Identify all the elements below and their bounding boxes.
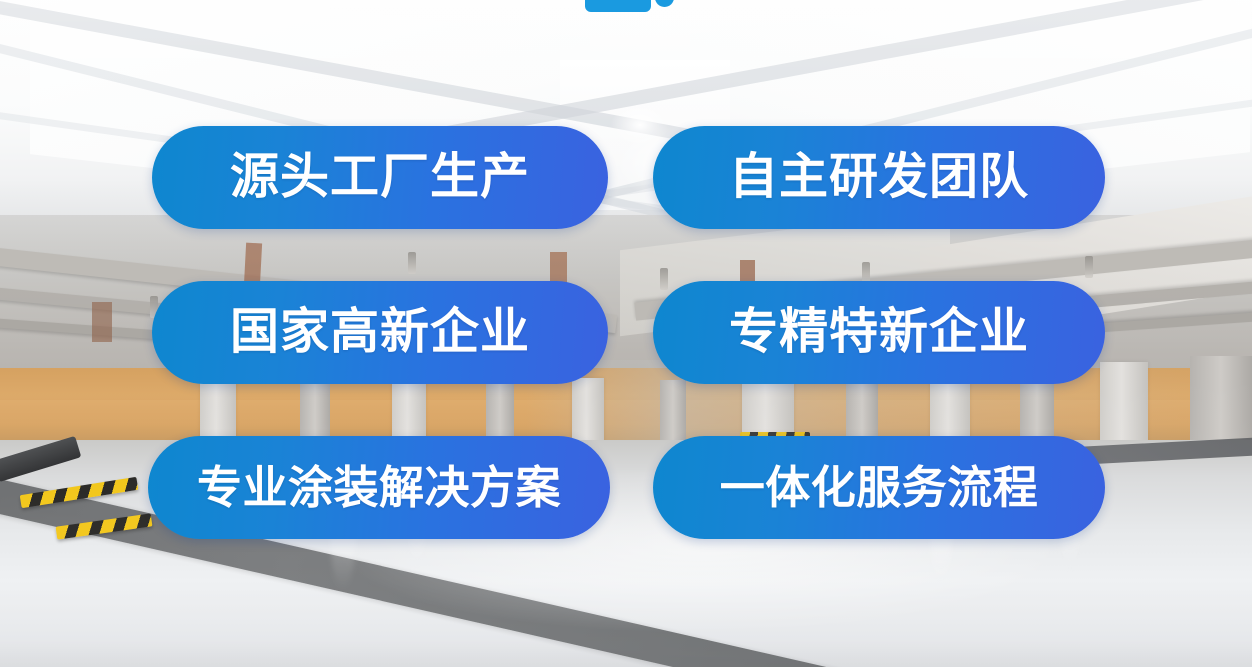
banner-stage: 源头工厂生产 自主研发团队 国家高新企业 专精特新企业 专业涂装解决方案 一体化… [0, 0, 1252, 667]
pill-label: 源头工厂生产 [230, 153, 530, 202]
pill-professional-coating[interactable]: 专业涂装解决方案 [148, 436, 610, 539]
pill-label: 自主研发团队 [729, 153, 1029, 202]
pill-label: 国家高新企业 [230, 308, 530, 357]
feature-pill-group: 源头工厂生产 自主研发团队 国家高新企业 专精特新企业 专业涂装解决方案 一体化… [0, 0, 1252, 667]
pill-independent-rd-team[interactable]: 自主研发团队 [653, 126, 1105, 229]
pill-national-high-tech[interactable]: 国家高新企业 [152, 281, 608, 384]
pill-label: 专业涂装解决方案 [197, 465, 561, 510]
pill-integrated-service-flow[interactable]: 一体化服务流程 [653, 436, 1105, 539]
pill-label: 一体化服务流程 [720, 465, 1039, 510]
pill-label: 专精特新企业 [729, 308, 1029, 357]
pill-specialized-new-enterprise[interactable]: 专精特新企业 [653, 281, 1105, 384]
pill-source-factory-production[interactable]: 源头工厂生产 [152, 126, 608, 229]
